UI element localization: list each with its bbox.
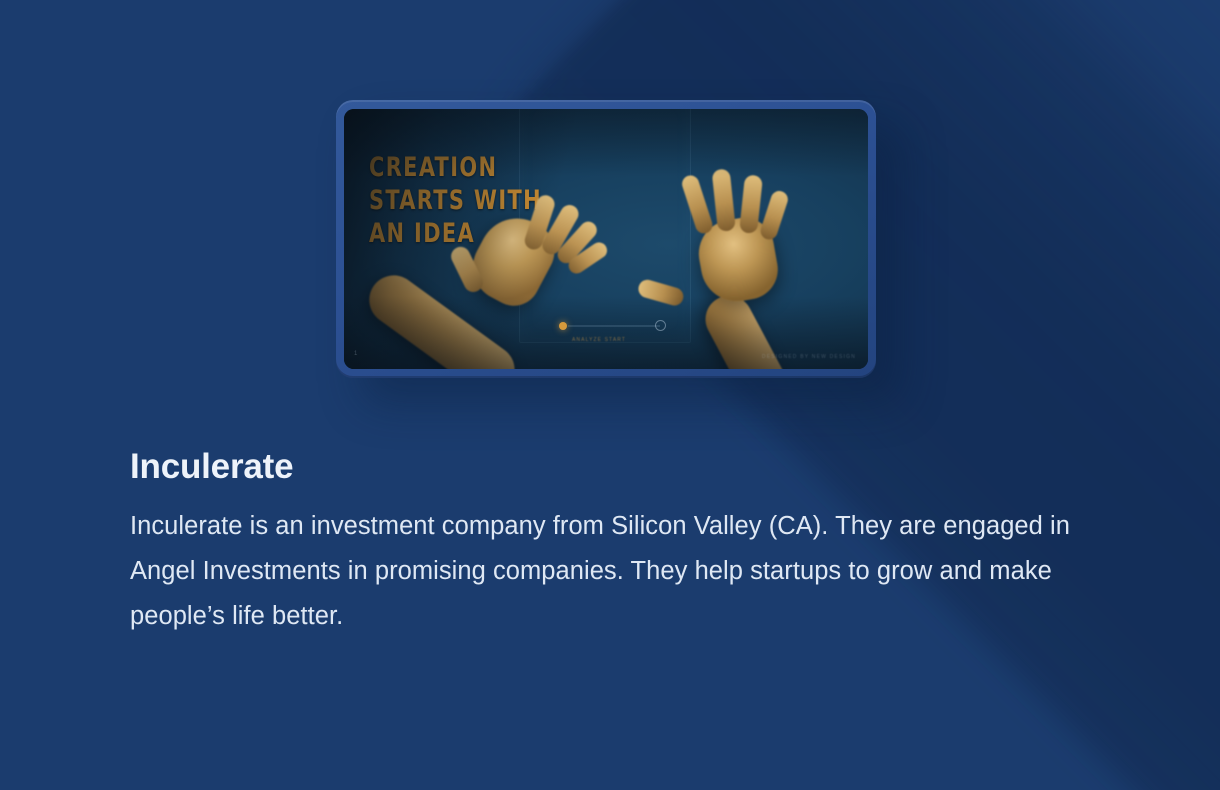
page-title: Inculerate	[130, 444, 1110, 490]
tablet-screen: CREATION STARTS WITH AN IDEA	[344, 109, 868, 369]
slider-track	[568, 325, 660, 327]
description-paragraph: Inculerate is an investment company from…	[130, 504, 1090, 639]
screen-caption: ANALYZE START	[572, 337, 626, 343]
tablet-device: CREATION STARTS WITH AN IDEA	[336, 100, 876, 378]
orange-dot-icon	[559, 322, 567, 330]
screen-corner-mark: 1	[354, 351, 358, 357]
screen-vignette	[344, 109, 868, 369]
circle-outline-icon	[655, 320, 666, 331]
screen-credit-text: DESIGNED BY NEW DESIGN	[762, 354, 856, 360]
text-block: Inculerate Inculerate is an investment c…	[130, 444, 1110, 639]
case-study-slide: CREATION STARTS WITH AN IDEA	[0, 0, 1220, 790]
